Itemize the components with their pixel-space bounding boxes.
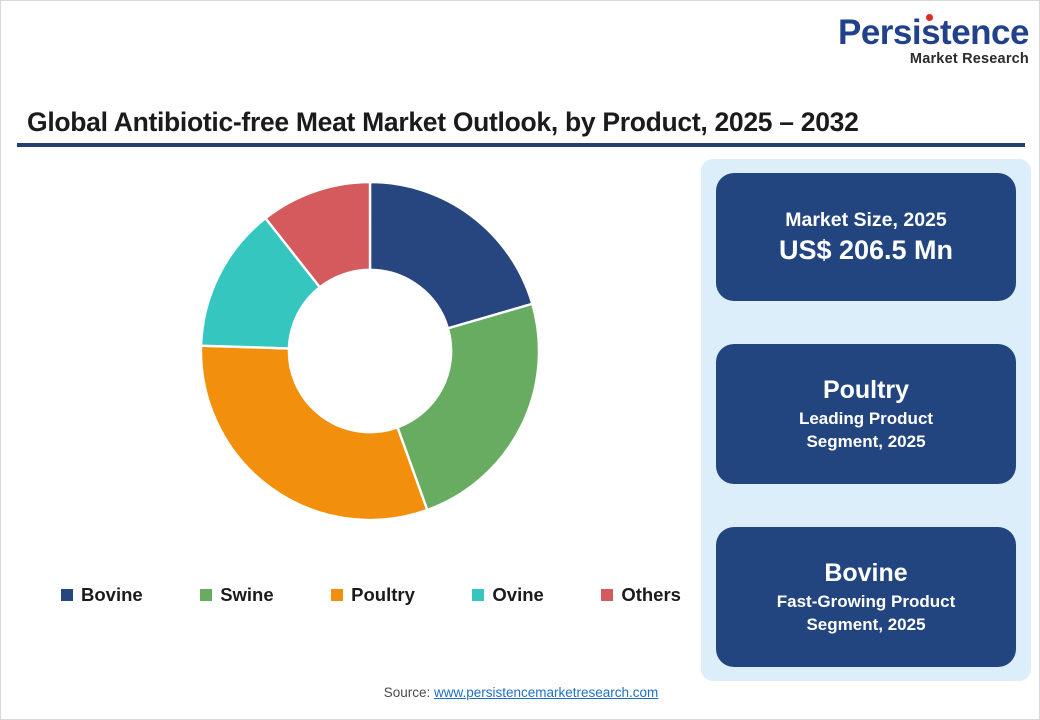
leading-segment-caption-line1: Leading Product [799,408,933,430]
fast-growing-segment-card: Bovine Fast-Growing Product Segment, 202… [716,527,1016,667]
market-size-card: Market Size, 2025 US$ 206.5 Mn [716,173,1016,301]
red-dot-icon [926,14,933,21]
highlights-panel: Market Size, 2025 US$ 206.5 Mn Poultry L… [701,159,1031,681]
legend-item-poultry: Poultry [331,584,415,606]
donut-slice-poultry [201,346,427,520]
chart-area [17,151,689,571]
fast-growing-segment-caption-line2: Segment, 2025 [806,614,925,636]
legend-label: Poultry [351,584,415,606]
legend-swatch-icon [61,589,73,601]
donut-slice-bovine [370,182,532,328]
legend-swatch-icon [331,589,343,601]
chart-legend: BovineSwinePoultryOvineOthers [61,584,681,606]
logo-wordmark: Persistence [838,15,1029,50]
leading-segment-caption-line2: Segment, 2025 [806,431,925,453]
legend-swatch-icon [200,589,212,601]
legend-item-ovine: Ovine [472,584,543,606]
legend-label: Ovine [492,584,543,606]
leading-segment-card: Poultry Leading Product Segment, 2025 [716,344,1016,484]
legend-label: Swine [220,584,273,606]
fast-growing-segment-caption-line1: Fast-Growing Product [777,591,956,613]
market-size-label: Market Size, 2025 [785,208,947,232]
legend-item-swine: Swine [200,584,273,606]
donut-slice-swine [397,304,539,510]
title-divider [17,143,1025,147]
logo-wordmark-text: Persistence [838,13,1029,52]
legend-swatch-icon [601,589,613,601]
legend-swatch-icon [472,589,484,601]
company-logo: Persistence Market Research [829,15,1029,67]
infographic-page: Persistence Market Research Global Antib… [0,0,1040,720]
donut-chart [201,182,539,520]
market-size-value: US$ 206.5 Mn [779,234,953,266]
source-prefix: Source: [384,685,434,700]
page-title: Global Antibiotic-free Meat Market Outlo… [27,107,1007,138]
legend-label: Others [621,584,681,606]
source-note: Source: www.persistencemarketresearch.co… [1,685,1040,700]
donut-slice-group [201,182,539,520]
legend-item-others: Others [601,584,681,606]
fast-growing-segment-name: Bovine [824,558,907,588]
legend-label: Bovine [81,584,143,606]
logo-subtitle: Market Research [829,51,1029,67]
source-link[interactable]: www.persistencemarketresearch.com [434,685,658,700]
leading-segment-name: Poultry [823,375,909,405]
legend-item-bovine: Bovine [61,584,143,606]
